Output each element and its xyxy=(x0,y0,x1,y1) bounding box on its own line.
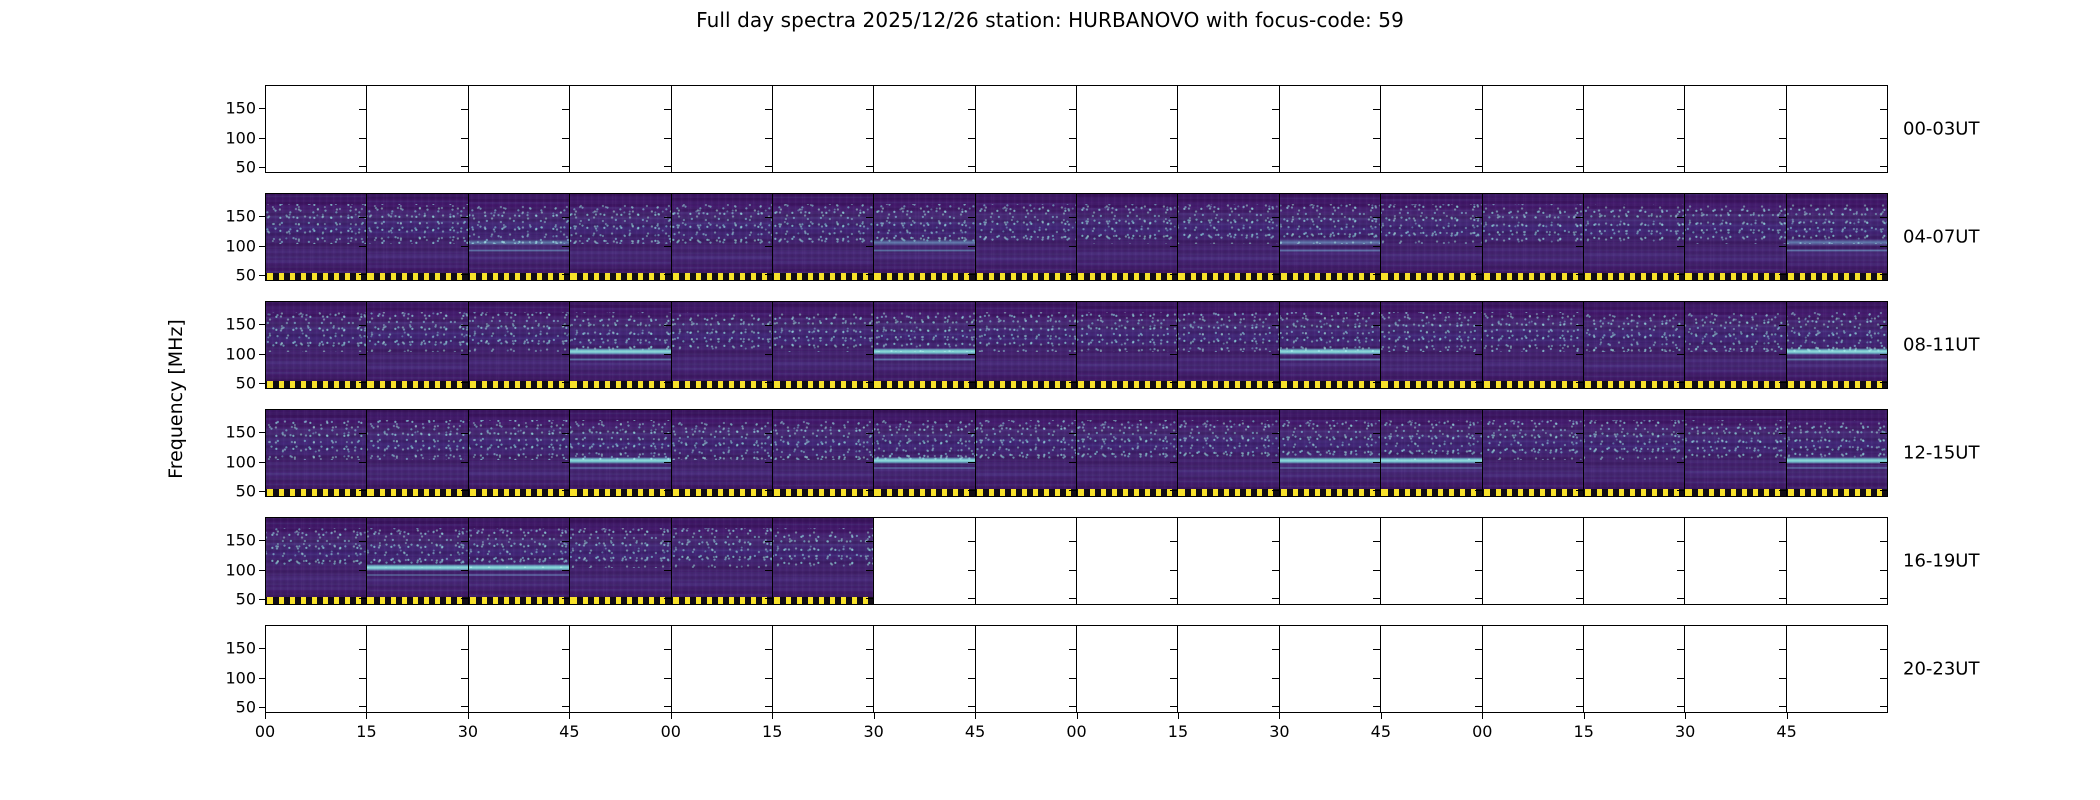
spectrogram-row-16-19ut[interactable] xyxy=(265,517,1888,605)
y-tick-mark xyxy=(1475,325,1482,326)
spectrogram-cell[interactable] xyxy=(266,410,367,496)
spectrogram-cell[interactable] xyxy=(1178,302,1279,388)
marker-strip xyxy=(672,597,772,604)
marker-strip xyxy=(976,381,1076,388)
y-tick-mark xyxy=(1677,649,1684,650)
marker-strip xyxy=(1178,381,1278,388)
y-tick-mark xyxy=(1272,138,1279,139)
spectrogram-cell[interactable] xyxy=(874,302,975,388)
spectrogram-cell-empty[interactable] xyxy=(1381,626,1482,712)
row-label-08-11ut: 08-11UT xyxy=(1903,335,1979,356)
y-tick-mark xyxy=(664,354,671,355)
y-tick-mark xyxy=(1170,678,1177,679)
emission-band xyxy=(469,564,569,571)
y-tick-mark xyxy=(359,462,366,463)
spectrogram-cell-empty[interactable] xyxy=(773,626,874,712)
spectrogram-cell[interactable] xyxy=(976,410,1077,496)
spectrogram-cell[interactable] xyxy=(672,410,773,496)
row-label-20-23ut: 20-23UT xyxy=(1903,659,1979,680)
y-tick-mark xyxy=(1475,649,1482,650)
spectrogram-cell[interactable] xyxy=(266,302,367,388)
spectrogram-cell[interactable] xyxy=(266,518,367,604)
spectrogram-cell-empty[interactable] xyxy=(1584,626,1685,712)
y-tick-mark xyxy=(968,541,975,542)
y-axis-tick xyxy=(259,383,265,384)
spectrogram-cell-empty[interactable] xyxy=(1381,518,1482,604)
y-axis-tick-label: 100 xyxy=(225,128,256,147)
y-tick-mark xyxy=(866,325,873,326)
y-tick-mark xyxy=(968,217,975,218)
y-tick-mark xyxy=(1272,462,1279,463)
y-tick-mark xyxy=(664,570,671,571)
spectrogram-cell-empty[interactable] xyxy=(1787,626,1887,712)
spectrogram-cell-empty[interactable] xyxy=(1787,86,1887,172)
spectrogram-cell[interactable] xyxy=(469,302,570,388)
y-tick-mark xyxy=(1880,462,1887,463)
y-tick-mark xyxy=(664,246,671,247)
marker-strip xyxy=(1178,489,1278,496)
spectrogram-cell[interactable] xyxy=(874,194,975,280)
spectrogram-cell[interactable] xyxy=(469,194,570,280)
y-axis-tick xyxy=(259,648,265,649)
spectrogram-row-08-11ut[interactable] xyxy=(265,301,1888,389)
y-tick-mark xyxy=(1475,706,1482,707)
spectrogram-cell[interactable] xyxy=(773,194,874,280)
y-tick-mark xyxy=(664,325,671,326)
x-axis-tick-label: 00 xyxy=(661,722,681,741)
y-tick-mark xyxy=(1170,649,1177,650)
y-tick-mark xyxy=(562,678,569,679)
row-cells xyxy=(266,410,1887,496)
y-tick-mark xyxy=(1373,138,1380,139)
marker-strip xyxy=(469,273,569,280)
x-axis-tick xyxy=(569,713,570,719)
y-tick-mark xyxy=(765,570,772,571)
y-axis-tick-label: 150 xyxy=(225,207,256,226)
spectrogram-cell-empty[interactable] xyxy=(1685,518,1786,604)
spectrogram-cell[interactable] xyxy=(570,302,671,388)
emission-band-secondary xyxy=(1381,467,1481,470)
spectrogram-noise-speckle xyxy=(773,204,873,244)
spectrogram-noise-speckle xyxy=(1280,420,1380,460)
y-tick-mark xyxy=(1779,138,1786,139)
spectrogram-cell[interactable] xyxy=(1787,194,1887,280)
x-axis-tick xyxy=(671,713,672,719)
spectrogram-cell-empty[interactable] xyxy=(1178,86,1279,172)
y-tick-mark xyxy=(1272,109,1279,110)
emission-band-secondary xyxy=(1787,249,1887,252)
y-tick-mark xyxy=(359,649,366,650)
spectrogram-cell[interactable] xyxy=(1178,410,1279,496)
y-tick-mark xyxy=(562,354,569,355)
y-axis-tick xyxy=(259,275,265,276)
spectrogram-cell[interactable] xyxy=(1685,302,1786,388)
spectrogram-noise-speckle xyxy=(1077,420,1177,460)
y-axis-tick-label: 150 xyxy=(225,531,256,550)
y-tick-mark xyxy=(461,490,468,491)
spectrogram-cell[interactable] xyxy=(672,302,773,388)
spectrogram-noise-speckle xyxy=(570,420,670,460)
spectrogram-cell-empty[interactable] xyxy=(976,626,1077,712)
spectrogram-cell[interactable] xyxy=(672,194,773,280)
y-tick-mark xyxy=(1272,541,1279,542)
y-tick-mark xyxy=(1779,325,1786,326)
spectrogram-cell[interactable] xyxy=(266,194,367,280)
y-tick-mark xyxy=(968,570,975,571)
spectrogram-cell-empty[interactable] xyxy=(672,86,773,172)
spectrogram-cell-empty[interactable] xyxy=(1685,86,1786,172)
spectrogram-cell[interactable] xyxy=(1685,194,1786,280)
spectrogram-cell[interactable] xyxy=(469,410,570,496)
spectrogram-cell[interactable] xyxy=(367,194,468,280)
y-axis-tick xyxy=(259,246,265,247)
y-tick-mark xyxy=(765,462,772,463)
x-axis-tick-label: 15 xyxy=(1168,722,1188,741)
x-axis-tick-label: 15 xyxy=(356,722,376,741)
emission-band-secondary xyxy=(1787,358,1887,361)
spectrogram-noise-speckle xyxy=(367,312,467,352)
spectrogram-cell-empty[interactable] xyxy=(469,86,570,172)
spectrogram-cell-empty[interactable] xyxy=(976,86,1077,172)
emission-band xyxy=(1787,348,1887,355)
y-tick-mark xyxy=(1475,166,1482,167)
y-tick-mark xyxy=(866,462,873,463)
y-tick-mark xyxy=(1779,382,1786,383)
spectrogram-cell-empty[interactable] xyxy=(1178,518,1279,604)
spectrogram-noise-speckle xyxy=(773,420,873,460)
y-tick-mark xyxy=(1880,166,1887,167)
spectrogram-cell[interactable] xyxy=(570,518,671,604)
spectrogram-cell[interactable] xyxy=(773,302,874,388)
y-tick-mark xyxy=(1475,678,1482,679)
spectrogram-cell[interactable] xyxy=(773,518,874,604)
y-tick-mark xyxy=(562,325,569,326)
y-tick-mark xyxy=(1373,678,1380,679)
marker-strip xyxy=(1584,489,1684,496)
y-tick-mark xyxy=(359,274,366,275)
spectrogram-cell[interactable] xyxy=(469,518,570,604)
spectrogram-cell-empty[interactable] xyxy=(672,626,773,712)
spectrogram-noise-speckle xyxy=(367,420,467,460)
y-tick-mark xyxy=(866,570,873,571)
y-tick-mark xyxy=(1779,354,1786,355)
y-tick-mark xyxy=(359,490,366,491)
y-axis-tick-label: 150 xyxy=(225,423,256,442)
spectrogram-cell[interactable] xyxy=(976,194,1077,280)
spectrogram-cell-empty[interactable] xyxy=(1787,518,1887,604)
y-tick-mark xyxy=(664,706,671,707)
spectrogram-noise-speckle xyxy=(367,528,467,568)
y-tick-mark xyxy=(1779,274,1786,275)
spectrogram-noise-speckle xyxy=(1584,420,1684,460)
y-axis-tick xyxy=(259,678,265,679)
marker-strip xyxy=(1483,273,1583,280)
spectrogram-cell-empty[interactable] xyxy=(874,86,975,172)
y-tick-mark xyxy=(562,541,569,542)
y-tick-mark xyxy=(461,598,468,599)
y-tick-mark xyxy=(461,166,468,167)
y-tick-mark xyxy=(968,274,975,275)
spectrogram-row-12-15ut[interactable] xyxy=(265,409,1888,497)
y-tick-mark xyxy=(1272,246,1279,247)
spectrogram-cell[interactable] xyxy=(1077,302,1178,388)
y-tick-mark xyxy=(461,274,468,275)
y-axis-tick xyxy=(259,599,265,600)
y-tick-mark xyxy=(1880,274,1887,275)
y-tick-mark xyxy=(359,433,366,434)
spectrogram-cell[interactable] xyxy=(1483,302,1584,388)
y-tick-mark xyxy=(664,678,671,679)
spectrogram-noise-speckle xyxy=(1483,420,1583,460)
spectrogram-cell-empty[interactable] xyxy=(266,86,367,172)
y-tick-mark xyxy=(1069,217,1076,218)
y-tick-mark xyxy=(461,706,468,707)
spectrogram-cell[interactable] xyxy=(1381,302,1482,388)
y-tick-mark xyxy=(1475,598,1482,599)
y-tick-mark xyxy=(1373,462,1380,463)
spectrogram-cell[interactable] xyxy=(367,518,468,604)
x-axis-tick xyxy=(1584,713,1585,719)
marker-strip xyxy=(469,597,569,604)
emission-band-secondary xyxy=(1280,358,1380,361)
spectrogram-cell[interactable] xyxy=(1584,302,1685,388)
spectrogram-cell[interactable] xyxy=(1381,194,1482,280)
spectrogram-row-20-23ut[interactable] xyxy=(265,625,1888,713)
y-tick-mark xyxy=(1677,109,1684,110)
y-tick-mark xyxy=(1880,217,1887,218)
y-tick-mark xyxy=(1170,246,1177,247)
y-axis-tick xyxy=(259,167,265,168)
y-tick-mark xyxy=(1880,138,1887,139)
y-tick-mark xyxy=(1677,490,1684,491)
y-tick-mark xyxy=(461,678,468,679)
spectrogram-cell-empty[interactable] xyxy=(1077,626,1178,712)
marker-strip xyxy=(266,381,366,388)
y-axis-tick-label: 50 xyxy=(236,158,256,177)
y-tick-mark xyxy=(664,541,671,542)
y-tick-mark xyxy=(866,678,873,679)
y-tick-mark xyxy=(1373,217,1380,218)
marker-strip xyxy=(570,597,670,604)
y-axis-tick-label: 100 xyxy=(225,668,256,687)
y-axis-tick-label: 50 xyxy=(236,590,256,609)
spectrogram-noise-speckle xyxy=(773,528,873,568)
spectrogram-cell-empty[interactable] xyxy=(1584,518,1685,604)
y-tick-mark xyxy=(765,706,772,707)
y-axis-tick xyxy=(259,432,265,433)
y-tick-mark xyxy=(664,274,671,275)
y-axis-tick xyxy=(259,324,265,325)
spectrogram-cell[interactable] xyxy=(1381,410,1482,496)
y-tick-mark xyxy=(664,490,671,491)
marker-strip xyxy=(570,273,670,280)
y-tick-mark xyxy=(1272,598,1279,599)
spectrogram-cell-empty[interactable] xyxy=(1280,518,1381,604)
spectrogram-cell-empty[interactable] xyxy=(367,626,468,712)
spectrogram-cell[interactable] xyxy=(1787,302,1887,388)
spectrogram-cell[interactable] xyxy=(1280,410,1381,496)
spectrogram-cell-empty[interactable] xyxy=(570,86,671,172)
marker-strip xyxy=(266,597,366,604)
spectrogram-row-00-03ut[interactable] xyxy=(265,85,1888,173)
y-tick-mark xyxy=(1779,246,1786,247)
x-axis-tick-label: 30 xyxy=(1269,722,1289,741)
spectrogram-cell-empty[interactable] xyxy=(1483,626,1584,712)
marker-strip xyxy=(1381,489,1481,496)
y-tick-mark xyxy=(765,490,772,491)
spectrogram-cell[interactable] xyxy=(1483,194,1584,280)
y-tick-mark xyxy=(1170,490,1177,491)
spectrogram-cell[interactable] xyxy=(367,302,468,388)
spectrogram-cell[interactable] xyxy=(367,410,468,496)
y-tick-mark xyxy=(968,490,975,491)
marker-strip xyxy=(1685,381,1785,388)
spectrogram-cell-empty[interactable] xyxy=(1178,626,1279,712)
spectrogram-cell[interactable] xyxy=(1077,194,1178,280)
y-tick-mark xyxy=(664,138,671,139)
marker-strip xyxy=(1280,489,1380,496)
spectrogram-cell[interactable] xyxy=(672,518,773,604)
y-tick-mark xyxy=(562,462,569,463)
emission-band-secondary xyxy=(874,249,974,252)
emission-band-secondary xyxy=(469,574,569,577)
spectrogram-cell-empty[interactable] xyxy=(976,518,1077,604)
row-cells xyxy=(266,518,1887,604)
y-tick-mark xyxy=(1576,325,1583,326)
spectrogram-cell-empty[interactable] xyxy=(1685,626,1786,712)
spectrogram-cell[interactable] xyxy=(976,302,1077,388)
y-tick-mark xyxy=(1880,678,1887,679)
spectrogram-cell-empty[interactable] xyxy=(469,626,570,712)
y-tick-mark xyxy=(562,706,569,707)
marker-strip xyxy=(773,273,873,280)
spectrogram-cell-empty[interactable] xyxy=(1077,518,1178,604)
y-tick-mark xyxy=(1576,598,1583,599)
spectrogram-cell-empty[interactable] xyxy=(1381,86,1482,172)
y-tick-mark xyxy=(1069,570,1076,571)
spectrogram-cell-empty[interactable] xyxy=(773,86,874,172)
y-axis-tick-label: 150 xyxy=(225,639,256,658)
y-tick-mark xyxy=(664,382,671,383)
x-axis-tick-label: 00 xyxy=(1472,722,1492,741)
y-tick-mark xyxy=(664,462,671,463)
marker-strip xyxy=(874,489,974,496)
y-tick-mark xyxy=(1170,166,1177,167)
y-tick-mark xyxy=(765,649,772,650)
emission-band xyxy=(1280,239,1380,246)
x-axis-tick-label: 45 xyxy=(559,722,579,741)
y-tick-mark xyxy=(1779,598,1786,599)
spectrogram-noise-speckle xyxy=(874,312,974,352)
y-tick-mark xyxy=(1475,462,1482,463)
spectrogram-cell-empty[interactable] xyxy=(1280,626,1381,712)
spectrogram-cell-empty[interactable] xyxy=(874,626,975,712)
y-tick-mark xyxy=(1779,217,1786,218)
y-tick-mark xyxy=(1677,382,1684,383)
spectrogram-cell[interactable] xyxy=(1584,194,1685,280)
y-tick-mark xyxy=(1677,138,1684,139)
spectrogram-cell[interactable] xyxy=(570,410,671,496)
y-tick-mark xyxy=(1576,678,1583,679)
marker-strip xyxy=(773,597,873,604)
spectrogram-cell[interactable] xyxy=(1280,302,1381,388)
spectrogram-cell-empty[interactable] xyxy=(1483,86,1584,172)
spectrogram-cell-empty[interactable] xyxy=(1584,86,1685,172)
spectrogram-noise-speckle xyxy=(469,312,569,352)
spectrogram-noise-speckle xyxy=(1483,312,1583,352)
spectrogram-cell-empty[interactable] xyxy=(266,626,367,712)
y-tick-mark xyxy=(1170,382,1177,383)
spectrogram-noise-speckle xyxy=(469,528,569,568)
y-tick-mark xyxy=(664,217,671,218)
y-tick-mark xyxy=(1272,354,1279,355)
y-tick-mark xyxy=(562,274,569,275)
x-axis-tick-label: 15 xyxy=(1574,722,1594,741)
y-tick-mark xyxy=(562,246,569,247)
spectrogram-noise-speckle xyxy=(1178,204,1278,244)
y-tick-mark xyxy=(1677,433,1684,434)
spectrogram-cell-empty[interactable] xyxy=(367,86,468,172)
y-axis-tick xyxy=(259,462,265,463)
spectrogram-cell-empty[interactable] xyxy=(874,518,975,604)
spectrogram-cell[interactable] xyxy=(1787,410,1887,496)
spectrogram-cell[interactable] xyxy=(570,194,671,280)
y-axis-tick xyxy=(259,707,265,708)
spectrogram-cell-empty[interactable] xyxy=(1077,86,1178,172)
y-tick-mark xyxy=(1677,678,1684,679)
spectrogram-row-04-07ut[interactable] xyxy=(265,193,1888,281)
spectrogram-cell[interactable] xyxy=(1685,410,1786,496)
y-tick-mark xyxy=(562,166,569,167)
emission-band-secondary xyxy=(1280,249,1380,252)
y-tick-mark xyxy=(1069,382,1076,383)
spectrogram-cell[interactable] xyxy=(1483,410,1584,496)
spectrogram-cell[interactable] xyxy=(1280,194,1381,280)
spectrogram-cell[interactable] xyxy=(1178,194,1279,280)
y-tick-mark xyxy=(1272,217,1279,218)
marker-strip xyxy=(672,273,772,280)
x-axis-tick xyxy=(772,713,773,719)
spectrogram-cell[interactable] xyxy=(874,410,975,496)
emission-band xyxy=(874,239,974,246)
row-cells xyxy=(266,302,1887,388)
spectrogram-cell[interactable] xyxy=(1077,410,1178,496)
y-axis-tick-label: 100 xyxy=(225,344,256,363)
y-tick-mark xyxy=(1677,274,1684,275)
y-axis-tick xyxy=(259,570,265,571)
y-tick-mark xyxy=(562,490,569,491)
y-tick-mark xyxy=(968,166,975,167)
y-tick-mark xyxy=(1677,325,1684,326)
y-tick-mark xyxy=(1170,570,1177,571)
spectrogram-cell[interactable] xyxy=(773,410,874,496)
spectrogram-cell-empty[interactable] xyxy=(1280,86,1381,172)
y-tick-mark xyxy=(765,138,772,139)
spectrogram-cell-empty[interactable] xyxy=(570,626,671,712)
emission-band xyxy=(1280,348,1380,355)
y-tick-mark xyxy=(968,462,975,463)
spectrogram-cell-empty[interactable] xyxy=(1483,518,1584,604)
y-tick-mark xyxy=(562,570,569,571)
emission-band xyxy=(570,457,670,464)
spectrogram-cell[interactable] xyxy=(1584,410,1685,496)
marker-strip xyxy=(367,381,467,388)
x-axis-tick xyxy=(366,713,367,719)
marker-strip xyxy=(1685,273,1785,280)
y-axis-tick xyxy=(259,540,265,541)
y-tick-mark xyxy=(866,541,873,542)
y-tick-mark xyxy=(1880,382,1887,383)
